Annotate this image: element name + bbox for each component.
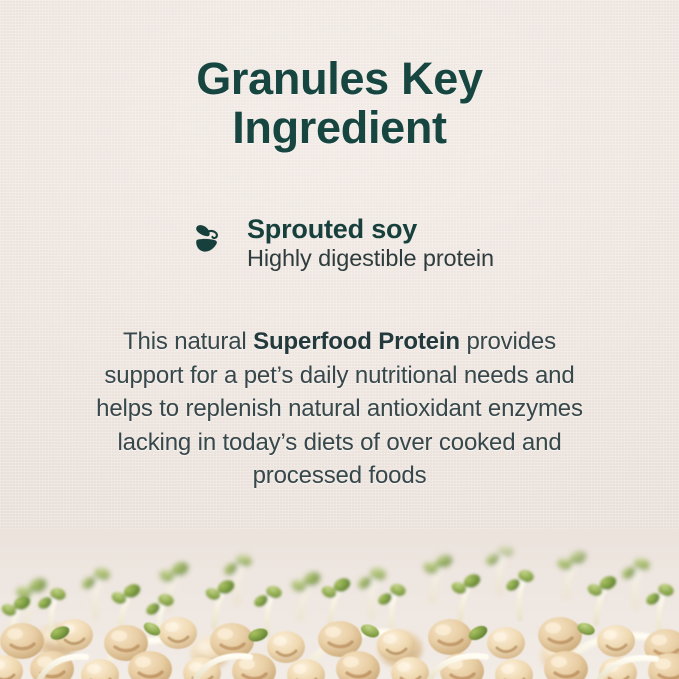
body-copy: This natural Superfood Protein provides … bbox=[90, 325, 589, 493]
body-copy-part-1: This natural bbox=[123, 328, 253, 355]
body-copy-emphasis: Superfood Protein bbox=[253, 328, 460, 355]
page-title: Granules Key Ingredient bbox=[0, 54, 679, 152]
page-title-line-2: Ingredient bbox=[0, 103, 679, 152]
sprout-photo bbox=[0, 529, 679, 679]
key-ingredient-text: Sprouted soy Highly digestible protein bbox=[247, 214, 494, 272]
key-ingredient-name: Sprouted soy bbox=[247, 214, 494, 244]
infographic-card: Granules Key Ingredient Sprouted soy Hig… bbox=[0, 0, 679, 679]
key-ingredient-item: Sprouted soy Highly digestible protein bbox=[193, 214, 494, 272]
page-title-line-1: Granules Key bbox=[0, 54, 679, 103]
sprout-icon bbox=[193, 220, 233, 260]
key-ingredient-description: Highly digestible protein bbox=[247, 244, 494, 272]
